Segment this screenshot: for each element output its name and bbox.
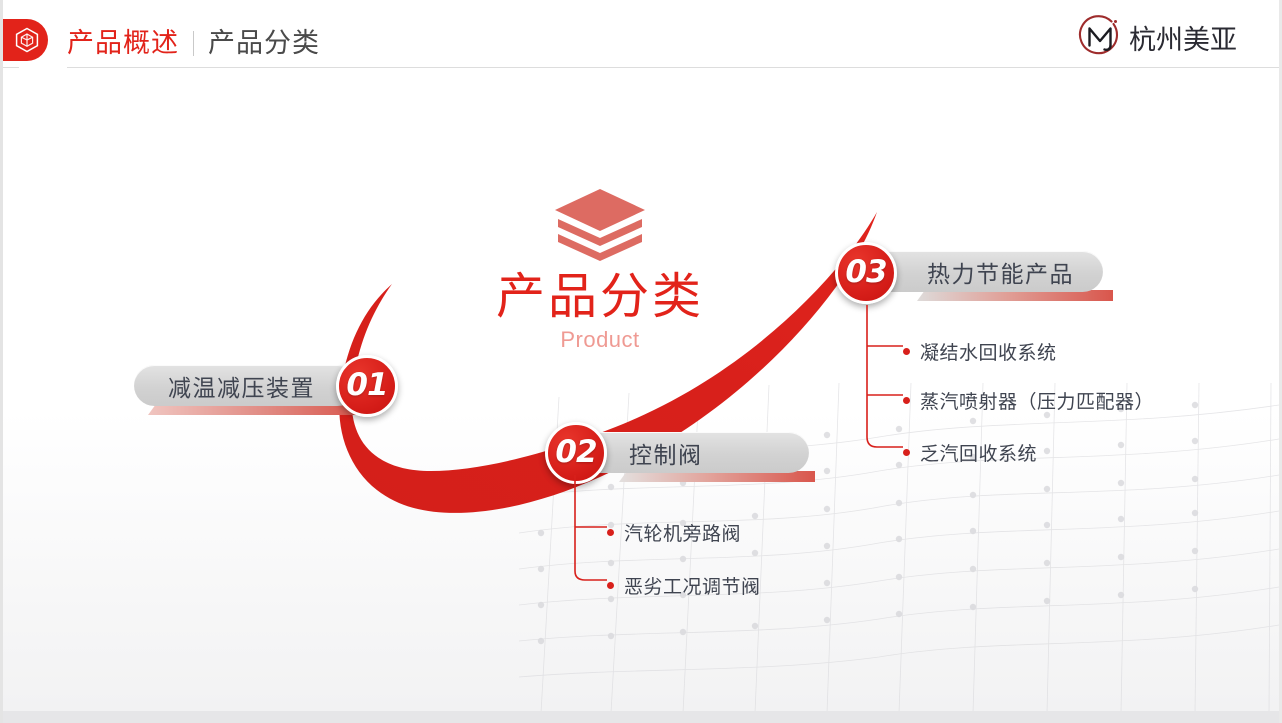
header-rule-left [3, 67, 19, 68]
cube-hexagon-icon [15, 27, 39, 53]
bullet-dot-icon [607, 529, 614, 536]
node-03-child-0-label: 凝结水回收系统 [920, 338, 1057, 365]
node-03-pill[interactable]: 热力节能产品 [869, 251, 1103, 292]
header-rule [67, 67, 1279, 68]
node-03-label: 热力节能产品 [927, 255, 1074, 289]
node-01-label: 减温减压装置 [168, 369, 315, 403]
header-badge [0, 19, 48, 61]
bullet-dot-icon [903, 348, 910, 355]
breadcrumb-separator [193, 31, 194, 56]
bullet-dot-icon [607, 582, 614, 589]
node-02-children: 汽轮机旁路阀 恶劣工况调节阀 [563, 475, 843, 605]
bottom-strip [3, 711, 1279, 723]
center-subtitle: Product [469, 327, 731, 353]
node-01-number: 01 [346, 367, 387, 403]
node-03[interactable]: 热力节能产品 03 [869, 251, 1103, 292]
list-item[interactable]: 汽轮机旁路阀 [607, 519, 741, 546]
node-03-badge[interactable]: 03 [835, 242, 897, 304]
slide-header: 产品概述 产品分类 杭州美亚 [3, 0, 1279, 76]
page-subtitle: 产品分类 [208, 21, 320, 60]
node-02-number: 02 [555, 434, 596, 470]
node-03-connector-bracket [859, 305, 919, 460]
header-breadcrumb: 产品概述 产品分类 [67, 21, 320, 60]
center-title: 产品分类 [469, 270, 731, 325]
node-03-child-2-label: 乏汽回收系统 [920, 439, 1037, 466]
slide-canvas: 产品概述 产品分类 杭州美亚 [0, 0, 1282, 723]
list-item[interactable]: 恶劣工况调节阀 [607, 572, 761, 599]
node-02-child-1-label: 恶劣工况调节阀 [624, 572, 761, 599]
page-title: 产品概述 [67, 21, 179, 60]
node-01-pill[interactable]: 减温减压装置 [134, 365, 358, 406]
node-03-number: 03 [845, 254, 886, 290]
list-item[interactable]: 蒸汽喷射器（压力匹配器） [903, 387, 1154, 414]
list-item[interactable]: 凝结水回收系统 [903, 338, 1057, 365]
node-01[interactable]: 减温减压装置 01 [134, 365, 358, 406]
brand-logo: 杭州美亚 [1077, 14, 1237, 60]
bullet-dot-icon [903, 449, 910, 456]
meiya-m-circle-logo-icon [1077, 14, 1123, 60]
node-02-child-0-label: 汽轮机旁路阀 [624, 519, 741, 546]
node-03-children: 凝结水回收系统 蒸汽喷射器（压力匹配器） 乏汽回收系统 [859, 305, 1179, 470]
brand-name: 杭州美亚 [1129, 18, 1237, 57]
node-01-badge[interactable]: 01 [336, 355, 398, 417]
center-title-block: 产品分类 Product [469, 186, 731, 353]
node-02[interactable]: 控制阀 02 [571, 432, 809, 473]
layers-stack-icon [552, 186, 648, 262]
node-02-label: 控制阀 [629, 436, 703, 470]
node-03-child-1-label: 蒸汽喷射器（压力匹配器） [920, 387, 1154, 414]
list-item[interactable]: 乏汽回收系统 [903, 439, 1037, 466]
bullet-dot-icon [903, 397, 910, 404]
